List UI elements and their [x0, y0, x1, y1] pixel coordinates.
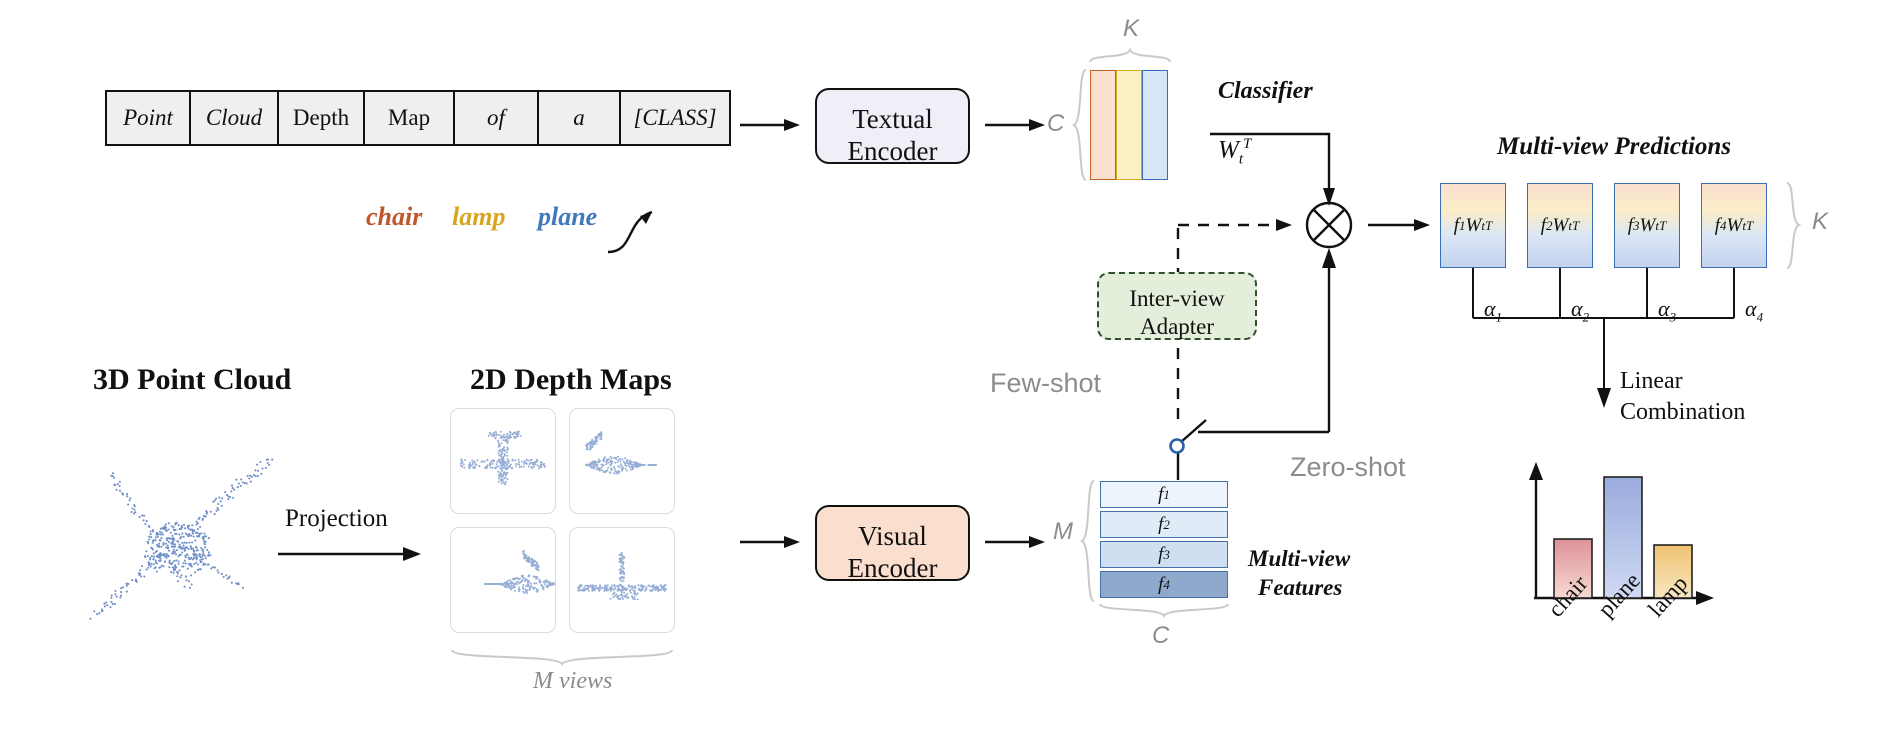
- visual-encoder-label-line1: Visual: [817, 521, 968, 553]
- predictions-brace-label: K: [1812, 208, 1828, 236]
- prediction-box: f2WtT: [1527, 183, 1593, 268]
- depth-map-tile-view-side-left: [450, 527, 556, 633]
- depth-map-tile-view-top: [450, 408, 556, 514]
- features-col-brace-label: C: [1152, 622, 1169, 650]
- visual-encoder-label-line2: Encoder: [817, 553, 968, 585]
- depth-map-grid: [450, 408, 673, 631]
- class-insert-arrow: [600, 190, 720, 260]
- prompt-token: Depth: [279, 92, 365, 144]
- prompt-token-class-slot: [CLASS]: [621, 92, 729, 144]
- alpha-weight: α2: [1571, 296, 1589, 325]
- few-shot-label: Few-shot: [990, 368, 1101, 399]
- feature-row: f1: [1100, 481, 1228, 508]
- arrow-textual-encoder-to-classifier: [985, 116, 1051, 136]
- classifier-col-brace: [1090, 48, 1170, 64]
- depth-map-tile-view-front: [569, 527, 675, 633]
- depth-map-tile-view-side-right: [569, 408, 675, 514]
- predictions-brace: [1787, 183, 1803, 268]
- alpha-weight: α3: [1658, 296, 1676, 325]
- prediction-box-row: f1WtT f2WtT f3WtT f4WtT: [1440, 183, 1767, 268]
- zero-shot-label: Zero-shot: [1290, 452, 1406, 483]
- prompt-token: of: [455, 92, 539, 144]
- prompt-token: Point: [107, 92, 191, 144]
- depth-maps-title: 2D Depth Maps: [470, 363, 672, 397]
- classifier-title: Classifier: [1218, 78, 1313, 105]
- features-col-brace: [1100, 604, 1228, 620]
- multi-view-predictions-title: Multi-view Predictions: [1497, 133, 1731, 161]
- features-row-brace: [1080, 481, 1096, 601]
- arrow-prompt-to-textual-encoder: [740, 116, 806, 136]
- point-cloud-visual: [70, 440, 290, 620]
- class-word-plane: plane: [538, 202, 597, 232]
- prompt-token: a: [539, 92, 621, 144]
- feature-row: f2: [1100, 511, 1228, 538]
- classifier-matrix: [1090, 70, 1168, 180]
- features-row-brace-label: M: [1053, 518, 1073, 546]
- textual-encoder-box[interactable]: Textual Encoder: [815, 88, 970, 164]
- arrow-operator-to-predictions: [1368, 216, 1438, 236]
- arrow-visual-encoder-to-features: [985, 533, 1051, 553]
- prompt-token-row: Point Cloud Depth Map of a [CLASS]: [105, 90, 731, 146]
- textual-encoder-label-line2: Encoder: [817, 136, 968, 168]
- visual-encoder-box[interactable]: Visual Encoder: [815, 505, 970, 581]
- prediction-box: f3WtT: [1614, 183, 1680, 268]
- mode-switch[interactable]: [1150, 412, 1220, 482]
- prompt-token: Map: [365, 92, 455, 144]
- textual-encoder-label-line1: Textual: [817, 104, 968, 136]
- inter-view-adapter-box[interactable]: Inter-view Adapter: [1097, 272, 1257, 340]
- adapter-label-line2: Adapter: [1099, 313, 1255, 341]
- feature-row: f3: [1100, 541, 1228, 568]
- depth-maps-caption: M views: [533, 668, 612, 695]
- prediction-box: f4WtT: [1701, 183, 1767, 268]
- classifier-row-brace-label: C: [1047, 110, 1064, 138]
- arrow-projection: [278, 545, 428, 565]
- linear-combination-line1: Linear: [1620, 366, 1745, 397]
- depth-maps-brace: [452, 650, 672, 668]
- point-cloud-title: 3D Point Cloud: [93, 363, 291, 397]
- classifier-row-brace: [1072, 70, 1088, 180]
- adapter-label-line1: Inter-view: [1099, 285, 1255, 313]
- arrow-depthmaps-to-visual-encoder: [740, 533, 806, 553]
- classifier-column-plane: [1142, 70, 1168, 180]
- class-word-lamp: lamp: [452, 202, 505, 232]
- classifier-column-lamp: [1116, 70, 1142, 180]
- class-word-chair: chair: [366, 202, 422, 232]
- classifier-column-chair: [1090, 70, 1116, 180]
- prompt-token: Cloud: [191, 92, 279, 144]
- projection-label: Projection: [285, 505, 388, 533]
- multi-view-features-caption: Multi-view Features: [1248, 545, 1350, 603]
- classifier-col-brace-label: K: [1123, 15, 1139, 43]
- multi-view-feature-stack: f1 f2 f3 f4: [1100, 481, 1228, 601]
- prediction-box: f1WtT: [1440, 183, 1506, 268]
- alpha-weight: α4: [1745, 296, 1763, 325]
- features-caption-line2: Features: [1258, 574, 1350, 603]
- features-caption-line1: Multi-view: [1248, 545, 1350, 574]
- linear-combination-line2: Combination: [1620, 397, 1745, 428]
- alpha-weight: α1: [1484, 296, 1502, 325]
- linear-combination-label: Linear Combination: [1620, 366, 1745, 428]
- feature-row: f4: [1100, 571, 1228, 598]
